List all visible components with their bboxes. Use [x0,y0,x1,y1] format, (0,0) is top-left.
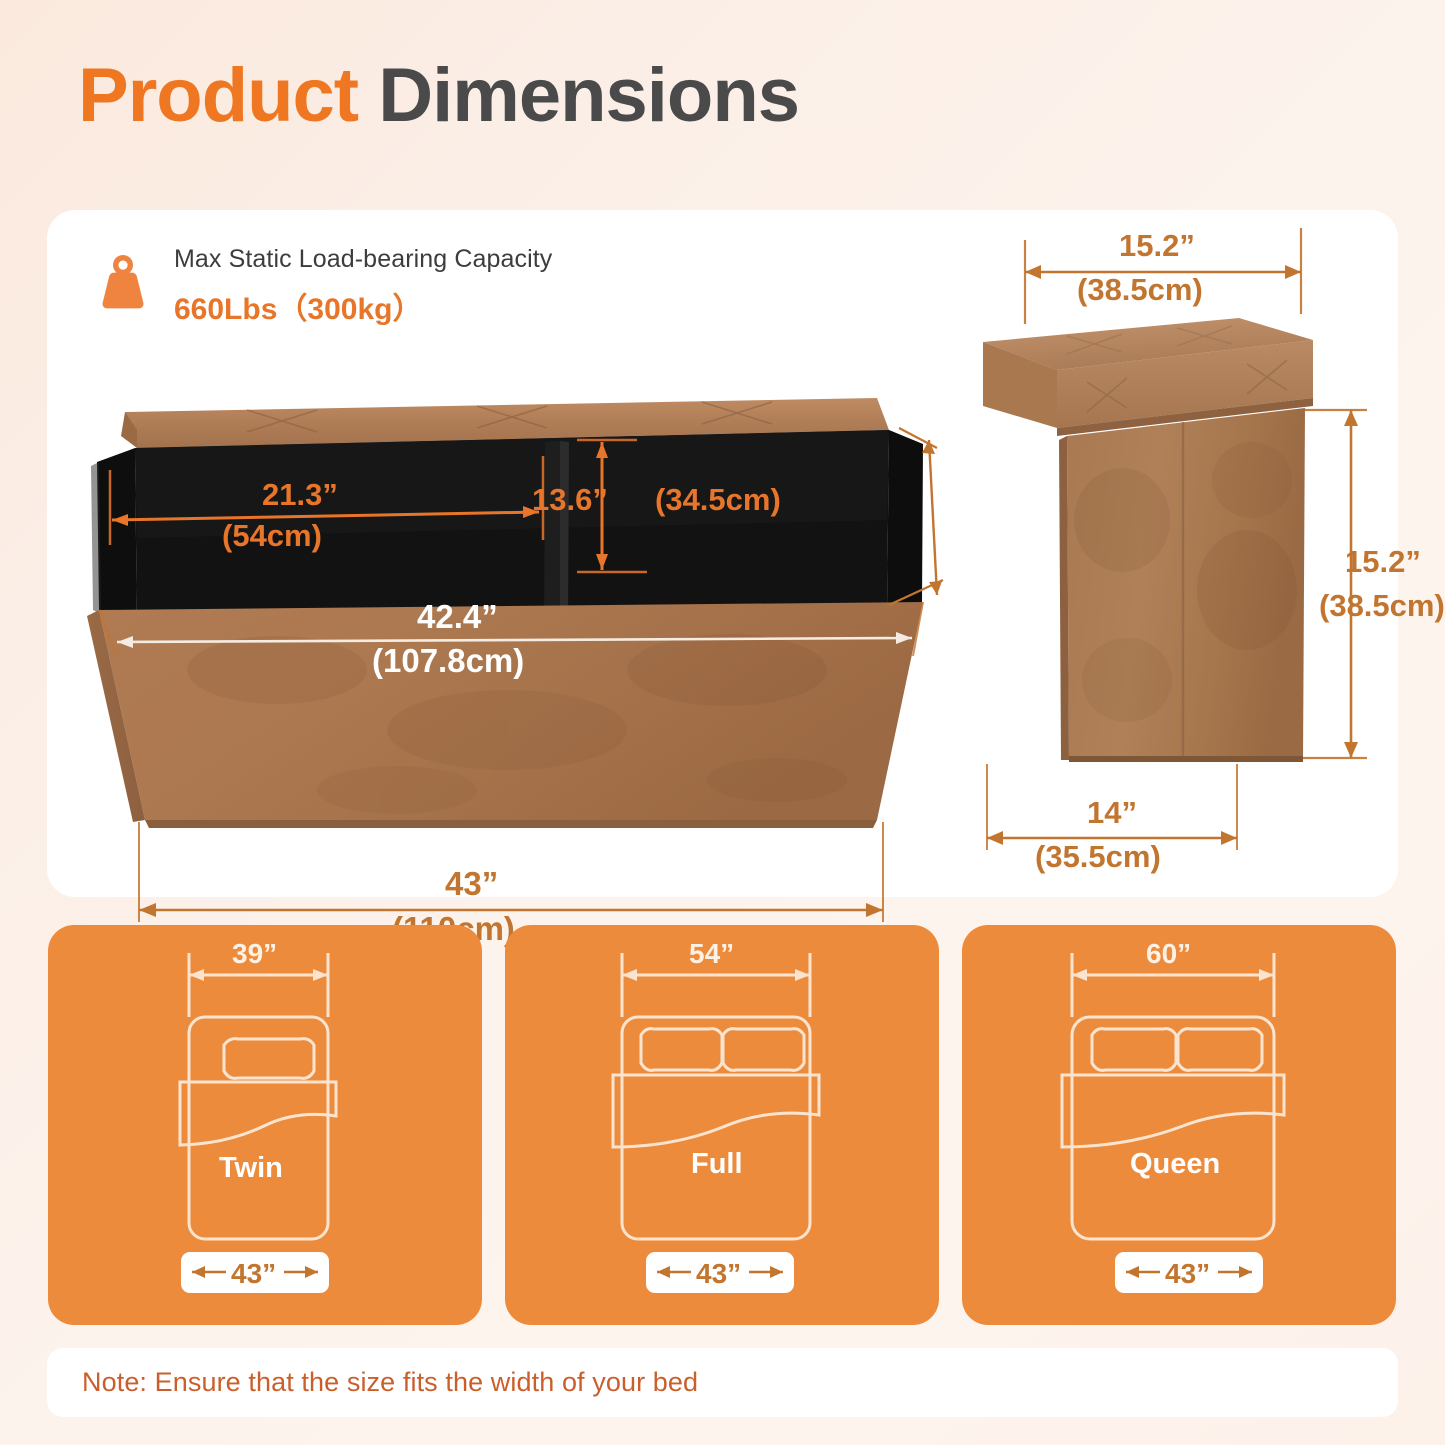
note-text: Note: Ensure that the size fits the widt… [82,1367,698,1398]
cube-bottom-depth-inch: 14” [1087,795,1137,830]
bed-name-queen: Queen [1130,1148,1220,1180]
page-title: Product Dimensions [78,52,799,139]
weight-icon [92,249,154,311]
load-capacity-block: Max Static Load-bearing Capacity 660Lbs（… [92,243,552,328]
cube-height-cm: (38.5cm) [1319,588,1445,623]
load-capacity-value: 660Lbs（300kg） [174,284,552,328]
bed-name-twin: Twin [219,1152,283,1184]
bed-name-full: Full [691,1148,743,1180]
bed-card-twin[interactable]: 39” Twin 43” [48,925,482,1325]
bed-card-queen[interactable]: 60” Queen 43” [962,925,1396,1325]
bench-top-width-cm: (107.8cm) [372,642,524,679]
bench-overall-width-inch: 43” [445,865,498,902]
ottoman-width-label-twin: 43” [231,1258,276,1289]
ottoman-width-label-queen: 43” [1165,1258,1210,1289]
load-capacity-lbs: 660Lbs [174,293,277,326]
cube-illustration: 15.2” (38.5cm) 15.2” (38.5cm) 14” [947,290,1377,870]
note-bar: Note: Ensure that the size fits the widt… [47,1348,1398,1417]
cube-top-depth-dimension: 15.2” (38.5cm) [1025,228,1301,324]
ottoman-width-label-full: 43” [696,1258,741,1289]
cube-top-depth-cm: (38.5cm) [1077,272,1203,307]
bed-width-label-full: 54” [689,938,734,969]
cube-height-dimension: 15.2” (38.5cm) [1303,410,1445,758]
load-capacity-label: Max Static Load-bearing Capacity [174,245,552,274]
load-capacity-kg: （300kg） [277,293,422,326]
cube-top-depth-inch: 15.2” [1119,228,1195,263]
cube-bottom-depth-dimension: 14” (35.5cm) [987,764,1237,874]
bench-top-width-inch: 42.4” [417,598,498,635]
bench-interior-width-cm: (54cm) [222,518,322,553]
bench-interior-width-inch: 21.3” [262,477,338,512]
dimensions-card: Max Static Load-bearing Capacity 660Lbs（… [47,210,1398,897]
cube-bottom-depth-cm: (35.5cm) [1035,839,1161,874]
bed-card-full[interactable]: 54” Full 43” [505,925,939,1325]
page-title-part2: Dimensions [378,53,799,138]
cube-height-inch: 15.2” [1345,544,1421,579]
bench-interior-depth-cm: (34.5cm) [655,482,781,517]
bed-width-label-queen: 60” [1146,938,1191,969]
bench-interior-depth-inch: 13.6” [532,482,608,517]
bed-size-cards: 39” Twin 43” [48,925,1398,1325]
bed-width-label-twin: 39” [232,938,277,969]
page-title-part1: Product [78,53,358,138]
bench-illustration: 21.3” (54cm) 13.6” (34.5cm) [77,370,947,870]
